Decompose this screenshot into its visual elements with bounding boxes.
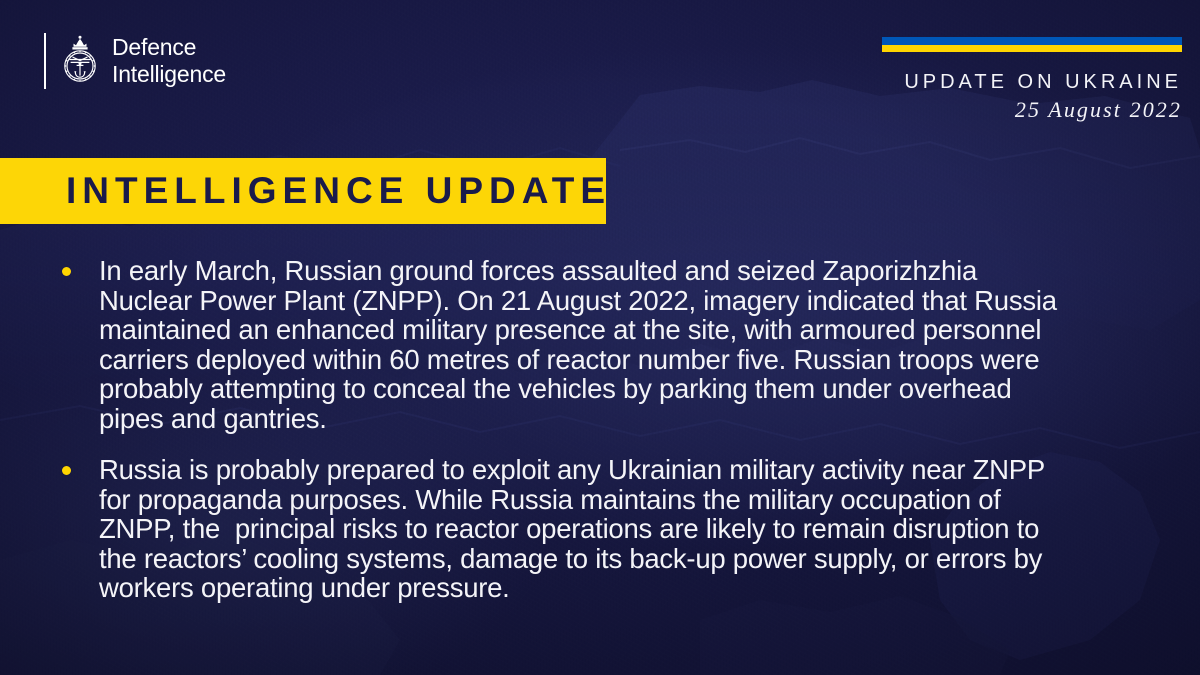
flag-yellow-stripe xyxy=(882,45,1182,52)
body-content: In early March, Russian ground forces as… xyxy=(62,256,1072,603)
brand-divider xyxy=(44,33,46,89)
mod-tri-service-crest-icon xyxy=(59,33,101,89)
list-item: Russia is probably prepared to exploit a… xyxy=(62,455,1072,603)
bullet-dot-icon xyxy=(62,466,71,475)
intelligence-update-banner: INTELLIGENCE UPDATE xyxy=(0,158,606,224)
update-title: UPDATE ON UKRAINE xyxy=(542,70,1182,95)
bullet-paragraph: In early March, Russian ground forces as… xyxy=(99,256,1072,433)
brand-line-1: Defence xyxy=(112,34,226,61)
ukraine-flag-bar xyxy=(882,37,1182,52)
list-item: In early March, Russian ground forces as… xyxy=(62,256,1072,433)
update-date: 25 August 2022 xyxy=(542,96,1182,124)
bullet-paragraph: Russia is probably prepared to exploit a… xyxy=(99,455,1072,603)
intelligence-update-slide: Defence Intelligence UPDATE ON UKRAINE 2… xyxy=(0,0,1200,675)
brand-name: Defence Intelligence xyxy=(112,34,226,88)
brand-lockup: Defence Intelligence xyxy=(44,33,226,89)
bullet-dot-icon xyxy=(62,267,71,276)
flag-blue-stripe xyxy=(882,37,1182,45)
brand-line-2: Intelligence xyxy=(112,61,226,88)
banner-label: INTELLIGENCE UPDATE xyxy=(0,170,611,212)
header-title-block: UPDATE ON UKRAINE 25 August 2022 xyxy=(542,70,1182,124)
